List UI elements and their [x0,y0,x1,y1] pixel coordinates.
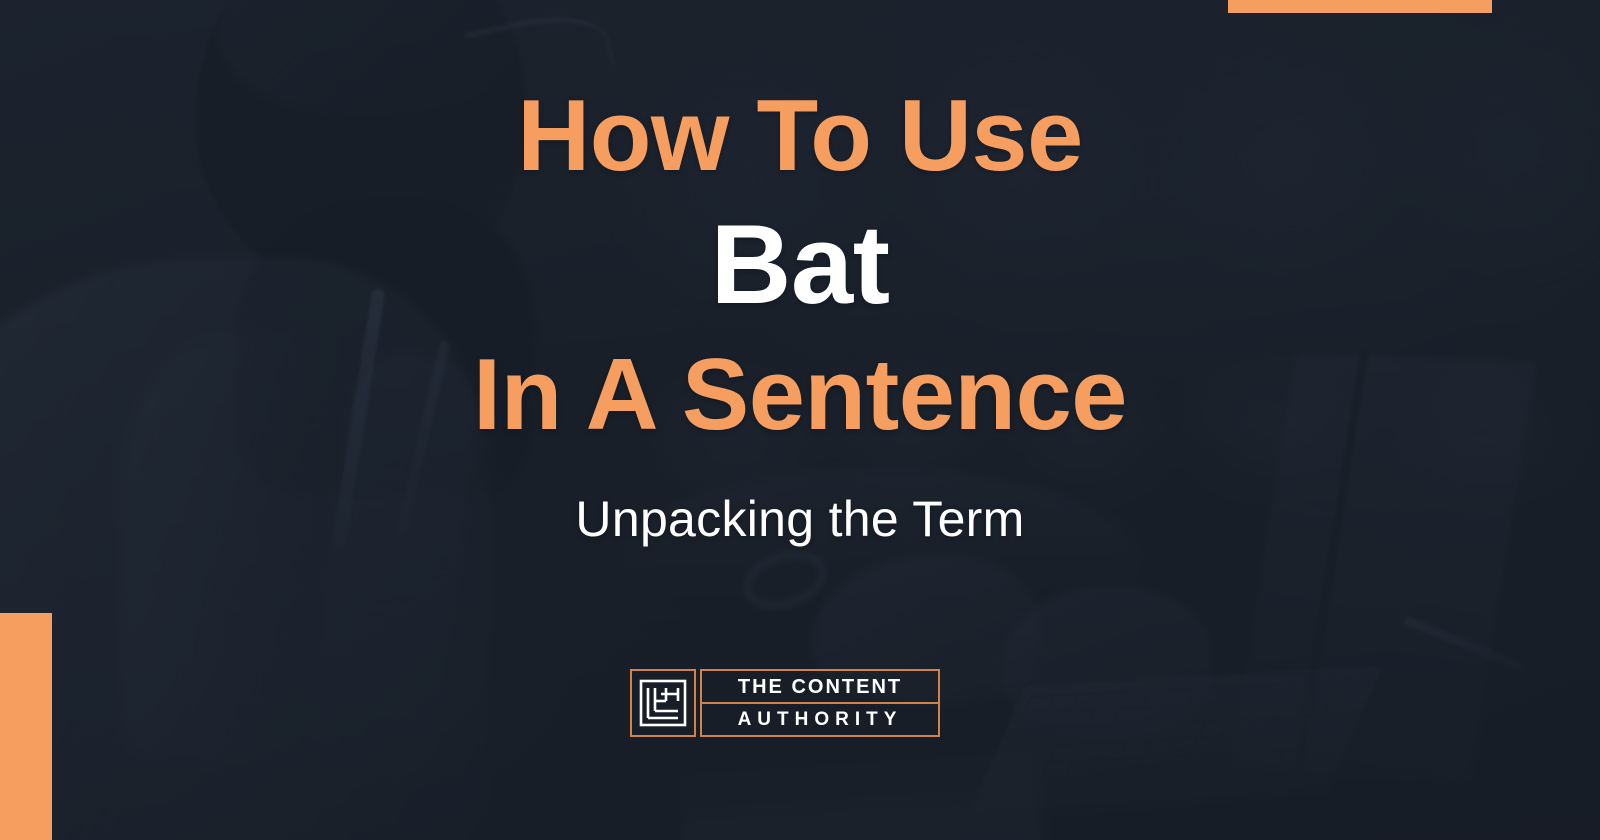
brand-logo[interactable]: THE CONTENT AUTHORITY [630,669,940,737]
featured-image-banner: How To Use Bat In A Sentence Unpacking t… [0,0,1600,840]
subtitle: Unpacking the Term [575,494,1024,544]
headline-term: Bat [711,209,890,321]
logo-line-1: THE CONTENT [700,669,940,704]
headline-line-1: How To Use [517,86,1083,187]
the-content-authority-monogram-icon [630,669,696,737]
headline-line-3: In A Sentence [473,345,1127,446]
logo-line-2: AUTHORITY [700,704,940,737]
logo-wordmark: THE CONTENT AUTHORITY [700,669,940,737]
